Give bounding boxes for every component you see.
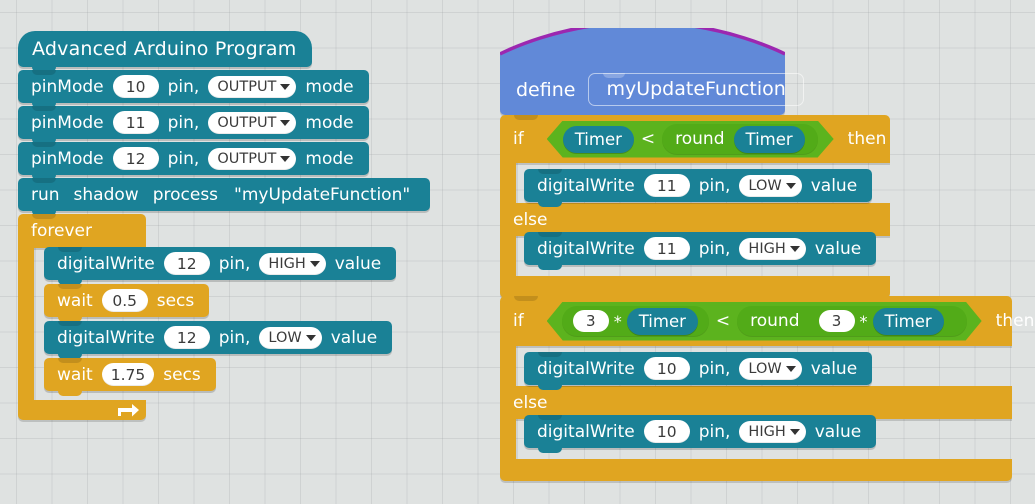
chevron-down-icon	[306, 335, 316, 341]
digitalwrite-then-2[interactable]: digitalWrite 10 pin, LOW value	[524, 352, 872, 385]
loop-arrow-icon	[118, 403, 142, 419]
pin-number-field[interactable]: 11	[113, 111, 159, 134]
value-label: value	[335, 254, 381, 274]
digitalwrite-label: digitalWrite	[537, 239, 635, 259]
multiply-block-right-2[interactable]: 3 * Timer	[809, 307, 954, 335]
process-name-field[interactable]: "myUpdateFunction"	[234, 185, 410, 205]
program-title: Advanced Arduino Program	[32, 38, 296, 60]
value-dropdown[interactable]: LOW	[259, 327, 321, 349]
shadow-label: shadow	[74, 185, 139, 205]
wait-seconds-field[interactable]: 0.5	[102, 289, 148, 312]
block-tab	[538, 385, 562, 390]
if-header-1[interactable]: if Timer < round Timer then	[500, 115, 890, 163]
pin-label: pin,	[168, 113, 200, 133]
forever-header[interactable]: forever	[18, 214, 146, 248]
multiply-factor-right[interactable]: 3	[819, 310, 855, 332]
value-label: value	[811, 359, 857, 379]
block-notch	[514, 296, 538, 301]
block-notch	[32, 106, 56, 111]
pin-number-field[interactable]: 10	[644, 357, 690, 380]
value-label: value	[815, 239, 861, 259]
mode-dropdown[interactable]: OUTPUT	[208, 148, 296, 170]
condition-hex-1[interactable]: Timer < round Timer	[547, 121, 834, 158]
chevron-down-icon	[280, 120, 290, 126]
digitalwrite-label: digitalWrite	[57, 328, 155, 348]
mode-dropdown-value: OUTPUT	[217, 115, 276, 131]
if-footer-1[interactable]	[500, 276, 890, 298]
run-shadow-process-block[interactable]: run shadow process "myUpdateFunction"	[18, 178, 430, 211]
else-label: else	[513, 393, 548, 413]
program-hat-block[interactable]: Advanced Arduino Program	[18, 31, 312, 67]
if-spine-then-1	[500, 163, 516, 203]
variable-timer-round-1[interactable]: Timer	[734, 126, 805, 153]
forever-label: forever	[31, 221, 92, 241]
block-notch	[58, 358, 82, 363]
if-label: if	[513, 311, 524, 331]
block-tab	[538, 265, 562, 270]
round-block-1[interactable]: round Timer	[662, 124, 818, 154]
pinmode-label: pinMode	[31, 149, 104, 169]
block-notch	[538, 232, 562, 237]
wait-block-2[interactable]: wait 1.75 secs	[44, 358, 216, 391]
multiply-factor-left[interactable]: 3	[573, 310, 609, 332]
block-notch	[58, 284, 82, 289]
mode-dropdown-value: OUTPUT	[217, 151, 276, 167]
block-notch	[32, 142, 56, 147]
multiply-operator-left: *	[614, 312, 622, 331]
digitalwrite-label: digitalWrite	[537, 359, 635, 379]
pin-label: pin,	[168, 149, 200, 169]
less-than-operator-2: <	[716, 311, 730, 331]
less-than-operator-1: <	[641, 129, 655, 149]
function-name-field[interactable]: myUpdateFunction	[588, 73, 803, 106]
block-notch	[32, 178, 56, 183]
variable-timer-left-2[interactable]: Timer	[627, 308, 698, 335]
chevron-down-icon	[280, 84, 290, 90]
digitalwrite-else-1[interactable]: digitalWrite 11 pin, HIGH value	[524, 232, 876, 265]
value-label: value	[815, 422, 861, 442]
define-hat-arc	[500, 28, 785, 68]
digitalwrite-block-1[interactable]: digitalWrite 12 pin, HIGH value	[44, 247, 396, 280]
digitalwrite-label: digitalWrite	[57, 254, 155, 274]
if-header-2[interactable]: if 3 * Timer < round 3 * Timer	[500, 296, 1012, 346]
value-dropdown-value: LOW	[268, 330, 301, 346]
value-dropdown-value: HIGH	[268, 256, 305, 272]
pin-number-field[interactable]: 10	[644, 420, 690, 443]
run-label: run	[31, 185, 60, 205]
if-else-block-2[interactable]: if 3 * Timer < round 3 * Timer	[500, 296, 1012, 346]
if-label: if	[513, 129, 524, 149]
round-label: round	[750, 311, 799, 331]
variable-timer-right-2[interactable]: Timer	[873, 308, 944, 335]
pin-number-field[interactable]: 12	[164, 326, 210, 349]
pin-number-field[interactable]: 12	[113, 147, 159, 170]
mode-dropdown[interactable]: OUTPUT	[208, 112, 296, 134]
wait-label: wait	[57, 365, 93, 385]
else-label: else	[513, 210, 548, 230]
block-notch	[538, 352, 562, 357]
secs-label: secs	[157, 291, 195, 311]
block-notch	[32, 214, 56, 219]
round-block-2[interactable]: round 3 * Timer	[737, 306, 967, 336]
digitalwrite-else-2[interactable]: digitalWrite 10 pin, HIGH value	[524, 415, 876, 448]
if-spine-else-1	[500, 236, 516, 276]
value-dropdown-value: LOW	[748, 178, 781, 194]
define-block[interactable]: define myUpdateFunction	[500, 28, 785, 115]
pin-label: pin,	[219, 254, 251, 274]
value-dropdown[interactable]: LOW	[739, 358, 801, 380]
wait-seconds-field[interactable]: 1.75	[102, 363, 155, 386]
then-label: then	[996, 311, 1035, 331]
blockly-workspace[interactable]: Advanced Arduino Program pinMode 10 pin,…	[0, 0, 1035, 504]
chevron-down-icon	[280, 156, 290, 162]
block-tab	[58, 391, 82, 396]
digitalwrite-then-1[interactable]: digitalWrite 11 pin, LOW value	[524, 169, 872, 202]
block-notch	[58, 321, 82, 326]
pin-label: pin,	[699, 359, 731, 379]
block-notch	[538, 415, 562, 420]
digitalwrite-label: digitalWrite	[537, 422, 635, 442]
chevron-down-icon	[790, 246, 800, 252]
if-footer-2[interactable]	[500, 459, 1012, 481]
pin-label: pin,	[699, 239, 731, 259]
mode-dropdown[interactable]: OUTPUT	[208, 76, 296, 98]
chevron-down-icon	[786, 183, 796, 189]
digitalwrite-block-2[interactable]: digitalWrite 12 pin, LOW value	[44, 321, 392, 354]
pinmode-block-2[interactable]: pinMode 11 pin, OUTPUT mode	[18, 106, 369, 139]
block-notch	[514, 115, 538, 120]
chevron-down-icon	[310, 261, 320, 267]
pin-label: pin,	[699, 176, 731, 196]
value-dropdown-value: LOW	[748, 361, 781, 377]
forever-spine	[18, 248, 34, 400]
pin-label: pin,	[699, 422, 731, 442]
pin-number-field[interactable]: 10	[113, 75, 159, 98]
then-label: then	[848, 129, 887, 149]
define-body[interactable]: define myUpdateFunction	[500, 64, 785, 115]
pinmode-block-3[interactable]: pinMode 12 pin, OUTPUT mode	[18, 142, 369, 175]
pinmode-label: pinMode	[31, 77, 104, 97]
mode-label: mode	[305, 77, 353, 97]
if-else-block-1[interactable]: if Timer < round Timer then else	[500, 115, 890, 163]
digitalwrite-label: digitalWrite	[537, 176, 635, 196]
wait-label: wait	[57, 291, 93, 311]
multiply-block-left-2[interactable]: 3 * Timer	[562, 306, 709, 336]
chevron-down-icon	[786, 366, 796, 372]
multiply-operator-right: *	[860, 312, 868, 331]
mode-dropdown-value: OUTPUT	[217, 79, 276, 95]
value-dropdown-value: HIGH	[748, 424, 785, 440]
define-keyword: define	[516, 79, 575, 101]
pin-label: pin,	[168, 77, 200, 97]
value-dropdown[interactable]: LOW	[739, 175, 801, 197]
variable-timer-left-1[interactable]: Timer	[563, 126, 634, 153]
wait-block-1[interactable]: wait 0.5 secs	[44, 284, 209, 317]
value-dropdown[interactable]: HIGH	[259, 253, 325, 275]
block-tab	[538, 202, 562, 207]
block-notch	[32, 70, 56, 75]
condition-hex-2[interactable]: 3 * Timer < round 3 * Timer	[547, 302, 982, 341]
pin-label: pin,	[219, 328, 251, 348]
process-label: process	[153, 185, 218, 205]
value-dropdown[interactable]: HIGH	[739, 421, 805, 443]
mode-label: mode	[305, 113, 353, 133]
secs-label: secs	[163, 365, 201, 385]
pinmode-block-1[interactable]: pinMode 10 pin, OUTPUT mode	[18, 70, 369, 103]
mode-label: mode	[305, 149, 353, 169]
value-label: value	[331, 328, 377, 348]
block-tab	[538, 448, 562, 453]
value-dropdown[interactable]: HIGH	[739, 238, 805, 260]
block-notch	[538, 169, 562, 174]
round-label: round	[675, 129, 724, 149]
chevron-down-icon	[790, 429, 800, 435]
pinmode-label: pinMode	[31, 113, 104, 133]
pin-number-field[interactable]: 11	[644, 174, 690, 197]
pin-number-field[interactable]: 11	[644, 237, 690, 260]
block-notch	[58, 247, 82, 252]
if-spine-else-2	[500, 419, 516, 459]
value-label: value	[811, 176, 857, 196]
if-spine-then-2	[500, 346, 516, 386]
forever-block[interactable]: forever	[18, 214, 146, 248]
value-dropdown-value: HIGH	[748, 241, 785, 257]
pin-number-field[interactable]: 12	[164, 252, 210, 275]
